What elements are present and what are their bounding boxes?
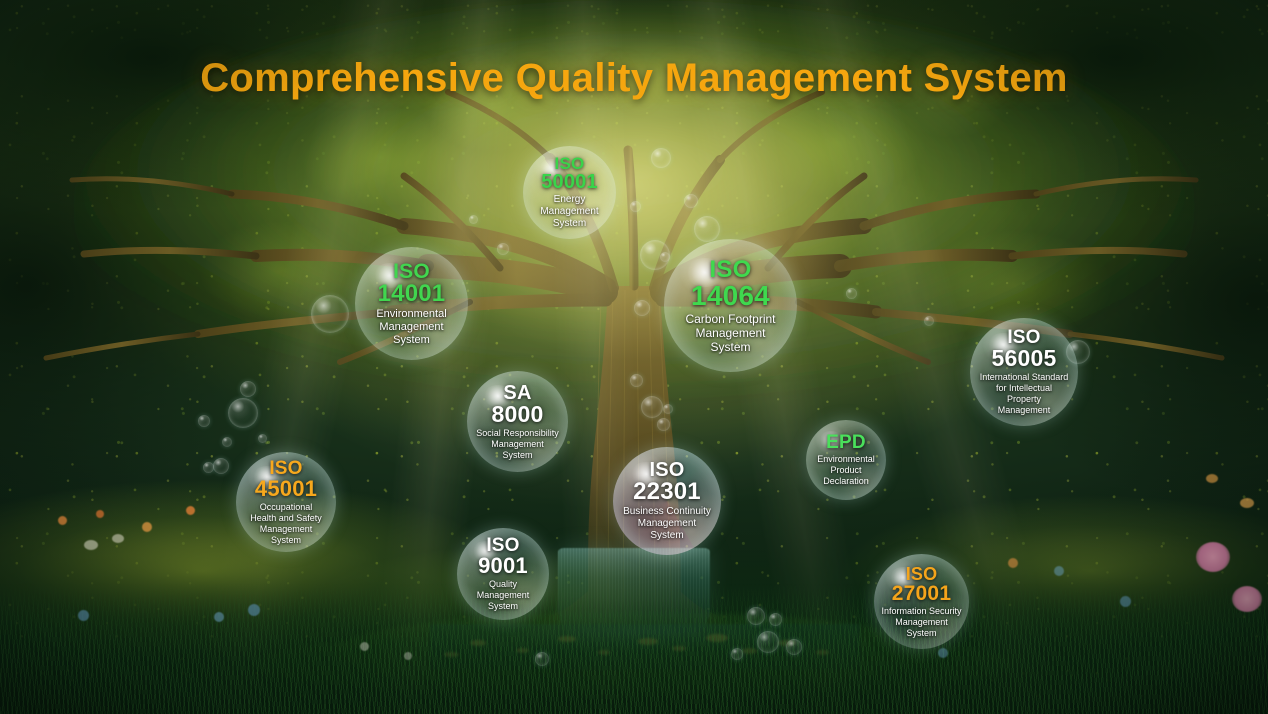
badge-iso-27001[interactable]: ISO27001Information SecurityManagementSy… [874,554,969,649]
badge-code: ISO [237,459,335,478]
badge-number: 50001 [524,172,615,192]
badge-number: 45001 [237,478,335,500]
badge-text: SA8000Social ResponsibilityManagementSys… [468,383,567,461]
badge-text: ISO45001OccupationalHealth and SafetyMan… [237,459,335,546]
badge-description: EnvironmentalManagementSystem [356,308,467,347]
badge-text: ISO9001QualityManagementSystem [458,536,548,612]
badge-code: ISO [665,258,795,282]
badge-text: ISO56005International Standardfor Intell… [971,328,1077,416]
badge-number: 22301 [614,480,720,504]
badge-number: 14001 [356,282,467,306]
certification-badges: ISO50001EnergyManagementSystemISO14001En… [0,0,1268,714]
badge-sa-8000[interactable]: SA8000Social ResponsibilityManagementSys… [467,371,568,472]
badge-description: EnvironmentalProductDeclaration [807,454,885,487]
badge-epd[interactable]: EPDEnvironmentalProductDeclaration [806,420,886,500]
badge-text: EPDEnvironmentalProductDeclaration [807,433,885,487]
badge-number: 14064 [665,282,795,310]
badge-description: Business ContinuityManagementSystem [614,506,720,542]
badge-code: EPD [807,433,885,452]
badge-number: 56005 [971,347,1077,370]
badge-code: ISO [356,261,467,282]
badge-iso-50001[interactable]: ISO50001EnergyManagementSystem [523,146,616,239]
badge-description: QualityManagementSystem [458,579,548,612]
badge-code: ISO [524,155,615,172]
badge-iso-22301[interactable]: ISO22301Business ContinuityManagementSys… [613,447,721,555]
badge-description: Carbon FootprintManagementSystem [665,312,795,354]
poster-scene: Comprehensive Quality Management System … [0,0,1268,714]
badge-text: ISO14064Carbon FootprintManagementSystem [665,258,795,354]
badge-code: ISO [875,565,968,583]
badge-text: ISO50001EnergyManagementSystem [524,155,615,230]
badge-iso-14001[interactable]: ISO14001EnvironmentalManagementSystem [355,247,468,360]
badge-iso-56005[interactable]: ISO56005International Standardfor Intell… [970,318,1078,426]
badge-description: Information SecurityManagementSystem [875,606,968,639]
badge-text: ISO22301Business ContinuityManagementSys… [614,460,720,542]
badge-number: 9001 [458,555,548,577]
badge-iso-9001[interactable]: ISO9001QualityManagementSystem [457,528,549,620]
badge-number: 27001 [875,583,968,604]
badge-code: SA [468,383,567,403]
badge-description: OccupationalHealth and SafetyManagementS… [237,502,335,546]
badge-description: EnergyManagementSystem [524,194,615,230]
badge-number: 8000 [468,403,567,426]
badge-description: International Standardfor IntellectualPr… [971,372,1077,416]
badge-text: ISO14001EnvironmentalManagementSystem [356,261,467,347]
badge-iso-14064[interactable]: ISO14064Carbon FootprintManagementSystem [664,239,797,372]
badge-iso-45001[interactable]: ISO45001OccupationalHealth and SafetyMan… [236,452,336,552]
badge-description: Social ResponsibilityManagementSystem [468,428,567,461]
badge-text: ISO27001Information SecurityManagementSy… [875,565,968,639]
badge-code: ISO [614,460,720,480]
